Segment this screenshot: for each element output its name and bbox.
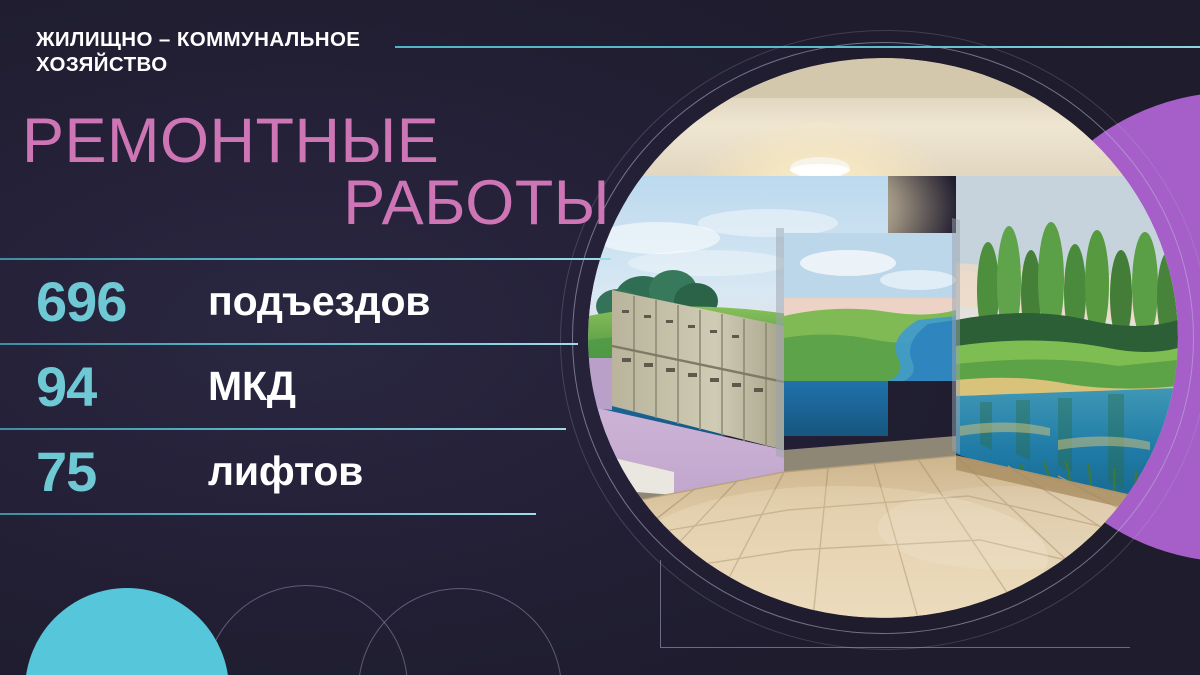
statistics-list: 696 подъездов 94 МКД 75 лифтов [0, 258, 620, 515]
stat-value-entrances: 696 [36, 274, 208, 330]
hallway-photo [588, 58, 1178, 618]
stat-label-buildings: МКД [208, 366, 296, 407]
top-divider-line [395, 46, 1200, 48]
stat-row-buildings: 94 МКД [0, 345, 620, 428]
kicker-text: ЖИЛИЩНО – КОММУНАЛЬНОЕ ХОЗЯЙСТВО [36, 28, 366, 77]
stat-row-elevators: 75 лифтов [0, 430, 620, 513]
stat-value-elevators: 75 [36, 444, 208, 500]
hallway-mural-illustration [588, 58, 1178, 618]
page-title: РЕМОНТНЫЕ РАБОТЫ [22, 110, 622, 235]
stat-label-elevators: лифтов [208, 451, 363, 492]
presentation-slide: ЖИЛИЩНО – КОММУНАЛЬНОЕ ХОЗЯЙСТВО РЕМОНТН… [0, 0, 1200, 675]
title-line-1: РЕМОНТНЫЕ [22, 110, 622, 172]
stat-value-buildings: 94 [36, 359, 208, 415]
stat-label-entrances: подъездов [208, 281, 430, 322]
stat-divider-bottom [0, 513, 536, 515]
outline-circle-right [358, 588, 562, 675]
stat-row-entrances: 696 подъездов [0, 260, 620, 343]
title-line-2: РАБОТЫ [22, 172, 622, 234]
cyan-circle-decoration [25, 588, 229, 675]
